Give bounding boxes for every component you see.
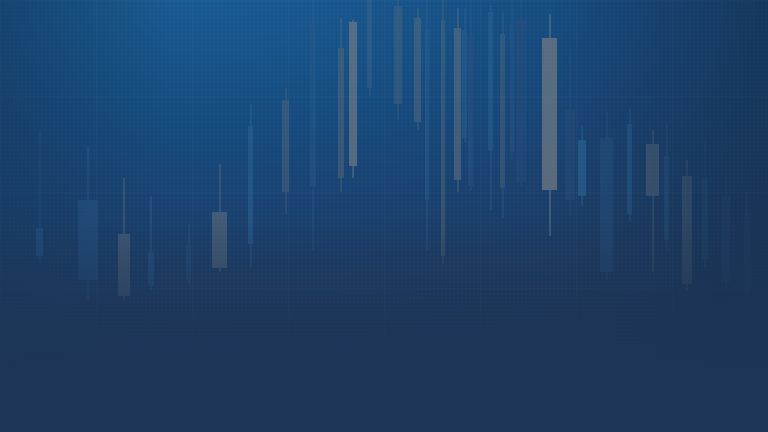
slide-root: Análisis técnico de mercados 26 de dicie…: [0, 0, 768, 432]
headline-band: Análisis técnico de mercados 26 de dicie…: [0, 280, 768, 432]
